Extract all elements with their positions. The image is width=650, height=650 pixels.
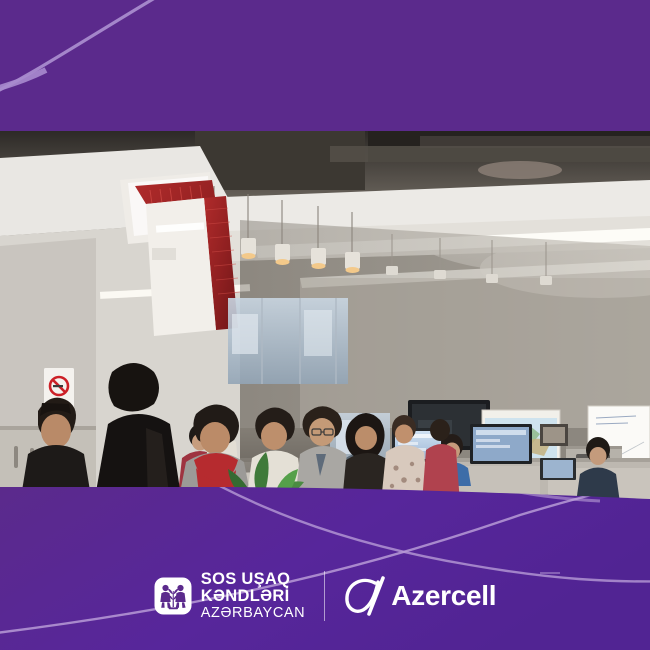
office-photo xyxy=(0,128,650,503)
desk-monitor-right xyxy=(470,424,532,464)
top-purple-band xyxy=(0,0,650,131)
sos-wordmark-line1: SOS UŞAQ xyxy=(201,571,305,588)
logo-lockup: SOS UŞAQ KƏNDLƏRİ AZƏRBAYCAN Azercell xyxy=(0,564,650,628)
azercell-alpha-icon xyxy=(342,574,392,618)
azercell-logo: Azercell xyxy=(342,574,496,618)
poster-canvas: SOS UŞAQ KƏNDLƏRİ AZƏRBAYCAN Azercell xyxy=(0,0,650,650)
bottom-purple-band: SOS UŞAQ KƏNDLƏRİ AZƏRBAYCAN Azercell xyxy=(0,485,650,650)
sos-wordmark-line3: AZƏRBAYCAN xyxy=(201,606,305,621)
sos-children-villages-icon xyxy=(154,577,192,615)
sos-childrens-villages-logo: SOS UŞAQ KƏNDLƏRİ AZƏRBAYCAN xyxy=(154,571,305,621)
sos-wordmark: SOS UŞAQ KƏNDLƏRİ AZƏRBAYCAN xyxy=(201,571,305,621)
decorative-arc xyxy=(0,0,650,131)
logo-separator xyxy=(324,571,325,621)
office-photo-illustration xyxy=(0,128,650,503)
sos-wordmark-line2: KƏNDLƏRİ xyxy=(201,588,305,605)
azercell-wordmark: Azercell xyxy=(391,580,496,612)
